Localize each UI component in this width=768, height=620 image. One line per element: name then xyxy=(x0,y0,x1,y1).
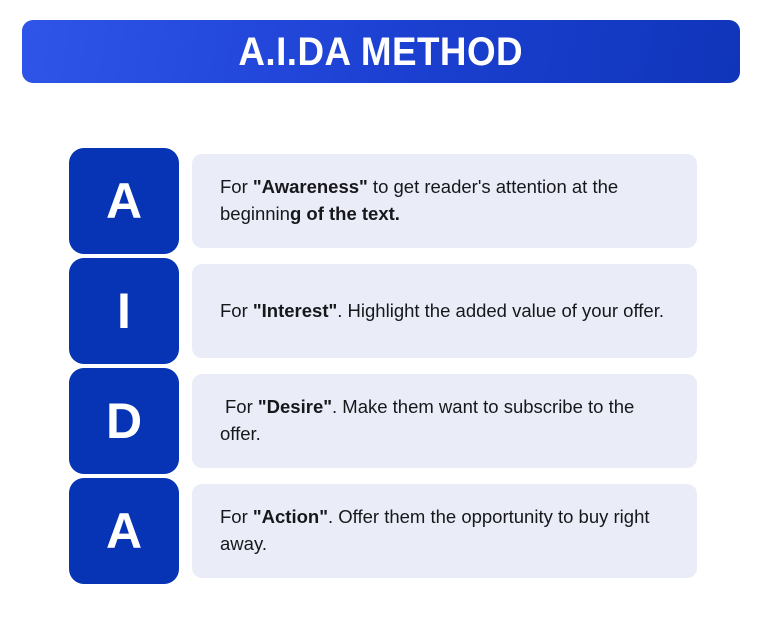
letter-tile-i-2: I xyxy=(69,258,179,364)
description-segment: For xyxy=(220,506,253,527)
description-emphasis: "Action" xyxy=(253,506,328,527)
aida-row: AFor "Awareness" to get reader's attenti… xyxy=(0,148,768,258)
description-panel: For "Interest". Highlight the added valu… xyxy=(192,264,697,358)
letter-tile-a-4: A xyxy=(69,478,179,584)
description-segment: For xyxy=(220,300,253,321)
description-text: For "Interest". Highlight the added valu… xyxy=(220,298,664,325)
description-segment: . Highlight the added value of your offe… xyxy=(337,300,664,321)
aida-row: AFor "Action". Offer them the opportunit… xyxy=(0,478,768,588)
description-segment: For xyxy=(220,176,253,197)
aida-row: IFor "Interest". Highlight the added val… xyxy=(0,258,768,368)
description-emphasis: g of the text. xyxy=(290,203,400,224)
description-text: For "Action". Offer them the opportunity… xyxy=(220,504,675,558)
description-text: For "Desire". Make them want to subscrib… xyxy=(220,394,675,448)
header-banner: A.I.DA METHOD xyxy=(22,20,740,83)
aida-infographic: A.I.DA METHOD AFor "Awareness" to get re… xyxy=(0,0,768,620)
description-emphasis: "Interest" xyxy=(253,300,337,321)
letter-tile-label: I xyxy=(117,286,131,336)
aida-row: DFor "Desire". Make them want to subscri… xyxy=(0,368,768,478)
letter-tile-label: A xyxy=(106,176,142,226)
description-text: For "Awareness" to get reader's attentio… xyxy=(220,174,675,228)
description-panel: For "Desire". Make them want to subscrib… xyxy=(192,374,697,468)
description-panel: For "Action". Offer them the opportunity… xyxy=(192,484,697,578)
page-title: A.I.DA METHOD xyxy=(239,32,524,72)
letter-tile-d-3: D xyxy=(69,368,179,474)
letter-tile-label: D xyxy=(106,396,142,446)
description-panel: For "Awareness" to get reader's attentio… xyxy=(192,154,697,248)
description-emphasis: "Awareness" xyxy=(253,176,368,197)
description-segment: For xyxy=(225,396,258,417)
description-emphasis: "Desire" xyxy=(258,396,332,417)
letter-tile-label: A xyxy=(106,506,142,556)
aida-rows-list: AFor "Awareness" to get reader's attenti… xyxy=(0,148,768,588)
letter-tile-a-1: A xyxy=(69,148,179,254)
